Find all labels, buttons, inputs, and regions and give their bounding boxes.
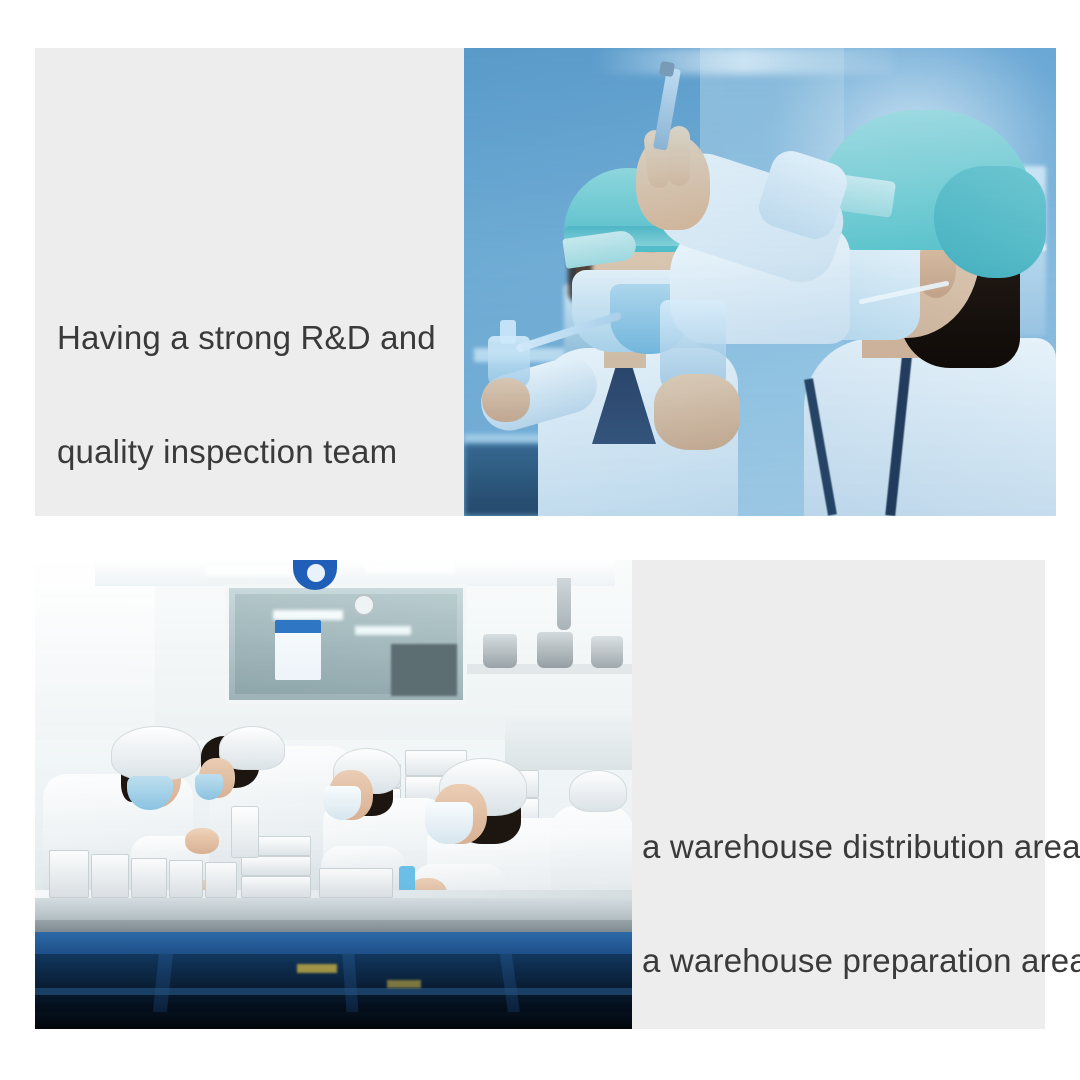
rnd-caption: Having a strong R&D and quality inspecti… [57,243,457,509]
warehouse-packing-photo [35,560,632,1029]
lab-photo-color-wash [464,48,1056,516]
warehouse-photo-color-wash [35,560,632,1029]
rnd-caption-line-2: quality inspection team [57,433,457,471]
lab-quality-inspection-photo [464,48,1056,516]
warehouse-caption-line-1: a warehouse distribution area [642,828,1042,866]
rnd-caption-line-1: Having a strong R&D and [57,319,457,357]
warehouse-caption-line-2: a warehouse preparation area [642,942,1042,980]
warehouse-caption: a warehouse distribution area a warehous… [642,752,1042,1018]
